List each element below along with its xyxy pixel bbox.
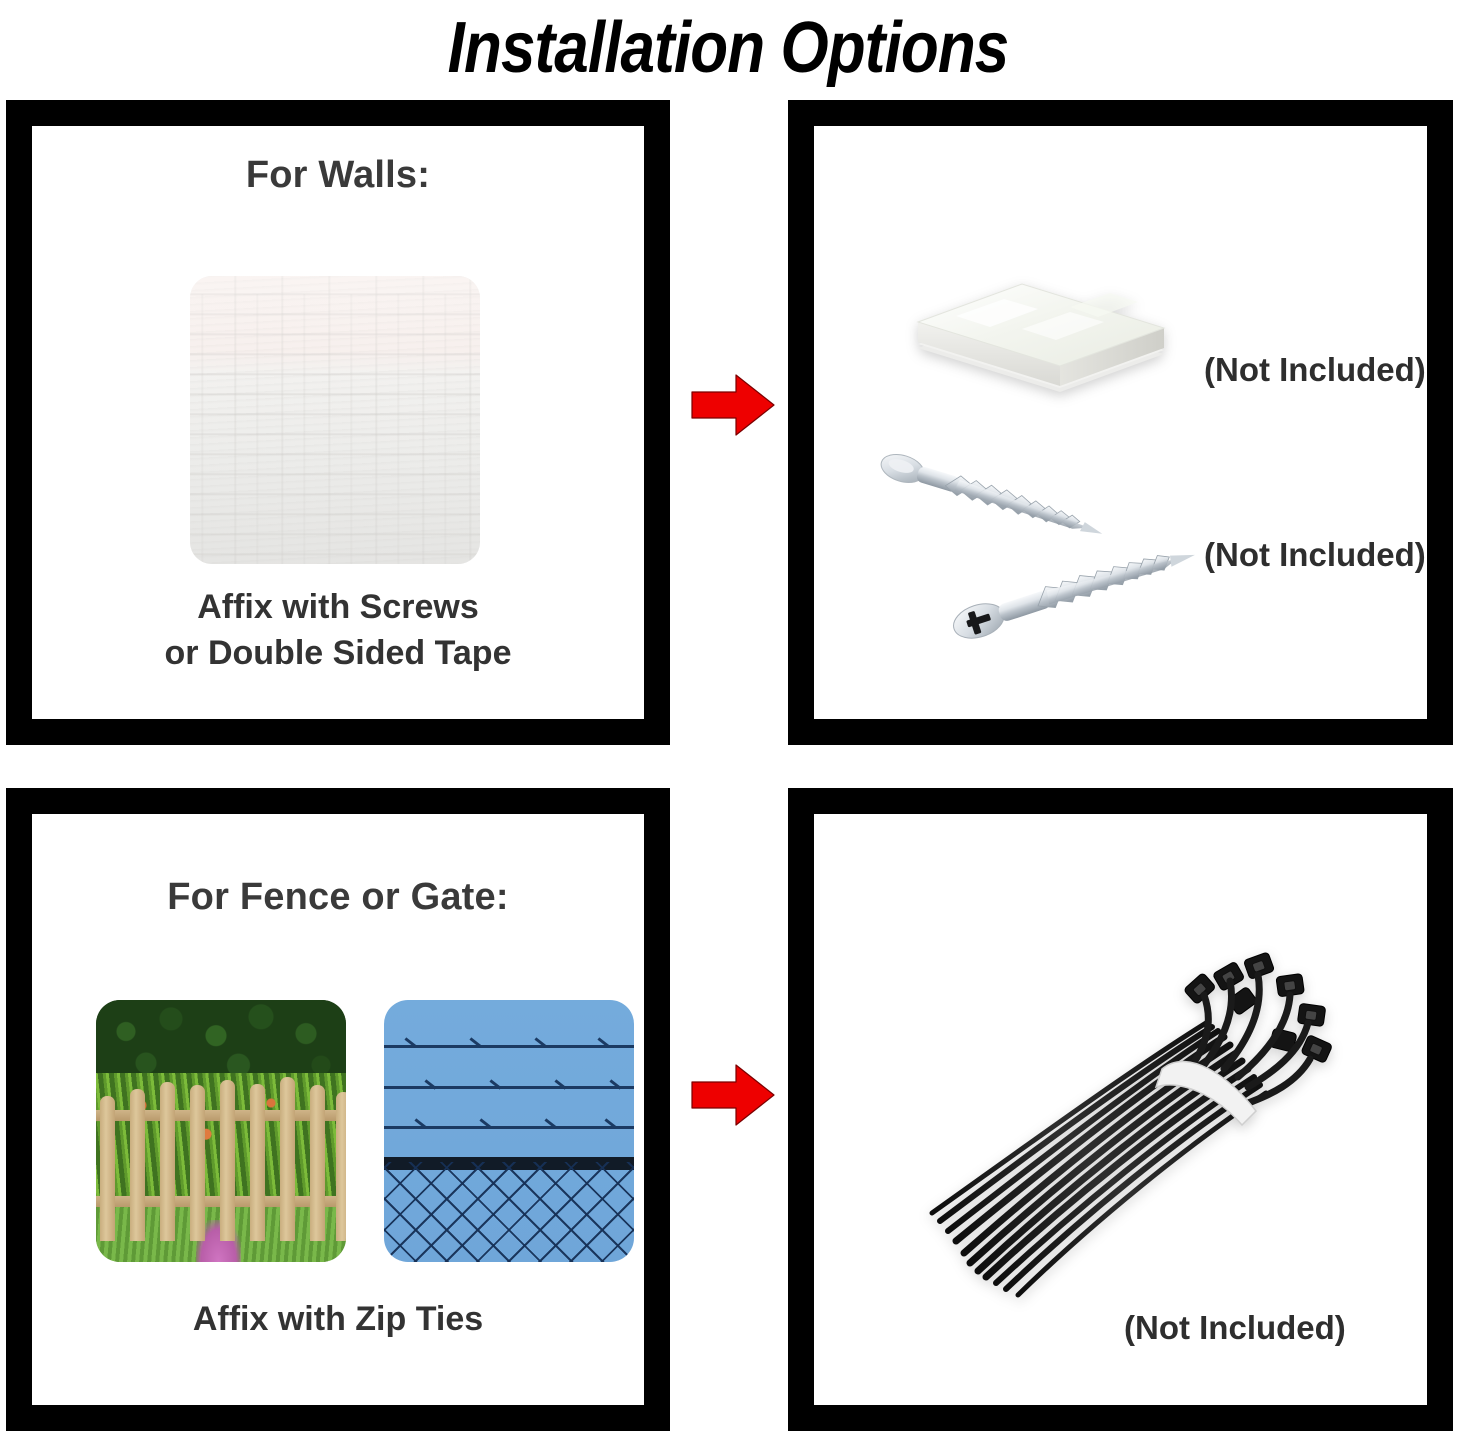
zipties-not-included-label: (Not Included) (1124, 1309, 1346, 1347)
picket-slat (190, 1085, 205, 1241)
black-zip-tie-bundle (844, 919, 1364, 1319)
picket-slat (336, 1092, 346, 1241)
picket-slat (160, 1082, 175, 1241)
barbed-wire-strand (384, 1086, 634, 1089)
panel-for-fence-or-gate: For Fence or Gate: (6, 788, 670, 1431)
picket-slat (250, 1084, 265, 1241)
chain-link-barbed-wire-fence-photo (384, 1000, 634, 1262)
panel-fence-hardware-content: (Not Included) (814, 814, 1427, 1405)
brick-shading-layer (190, 276, 480, 564)
panel-for-walls-content: For Walls: Affix with Screws or Double S… (32, 126, 644, 719)
wooden-picket-fence-photo (96, 1000, 346, 1262)
red-arrow-right-icon (690, 1062, 776, 1128)
for-fence-heading: For Fence or Gate: (32, 876, 644, 919)
picket-slats-group (96, 1068, 346, 1241)
page-title-bar: Installation Options (0, 0, 1457, 96)
for-walls-caption-line2: or Double Sided Tape (32, 631, 644, 677)
double-sided-tape-stack (910, 244, 1170, 404)
panel-fence-hardware: (Not Included) (788, 788, 1453, 1431)
for-walls-caption-line1: Affix with Screws (32, 585, 644, 631)
picket-slat (310, 1085, 325, 1241)
picket-slat (280, 1077, 295, 1241)
screw-lower (949, 536, 1199, 644)
for-fence-caption: Affix with Zip Ties (32, 1297, 644, 1343)
picket-slat (130, 1089, 145, 1241)
panel-wall-hardware-content: (Not Included) (814, 126, 1427, 719)
screw-upper (878, 450, 1107, 543)
panel-for-fence-content: For Fence or Gate: (32, 814, 644, 1405)
screws-not-included-label: (Not Included) (1204, 536, 1426, 574)
page-title: Installation Options (448, 12, 1009, 84)
picket-slat (220, 1080, 235, 1241)
panel-wall-hardware: (Not Included) (788, 100, 1453, 745)
red-arrow-right-icon (690, 372, 776, 438)
tape-not-included-label: (Not Included) (1204, 351, 1426, 389)
for-walls-caption: Affix with Screws or Double Sided Tape (32, 585, 644, 677)
picket-slat (100, 1096, 115, 1241)
white-brick-wall-photo (190, 276, 480, 564)
barbed-wire-strand (384, 1045, 634, 1048)
chain-link-mesh-layer (384, 1162, 634, 1262)
panel-for-walls: For Walls: Affix with Screws or Double S… (6, 100, 670, 745)
for-walls-heading: For Walls: (32, 154, 644, 197)
